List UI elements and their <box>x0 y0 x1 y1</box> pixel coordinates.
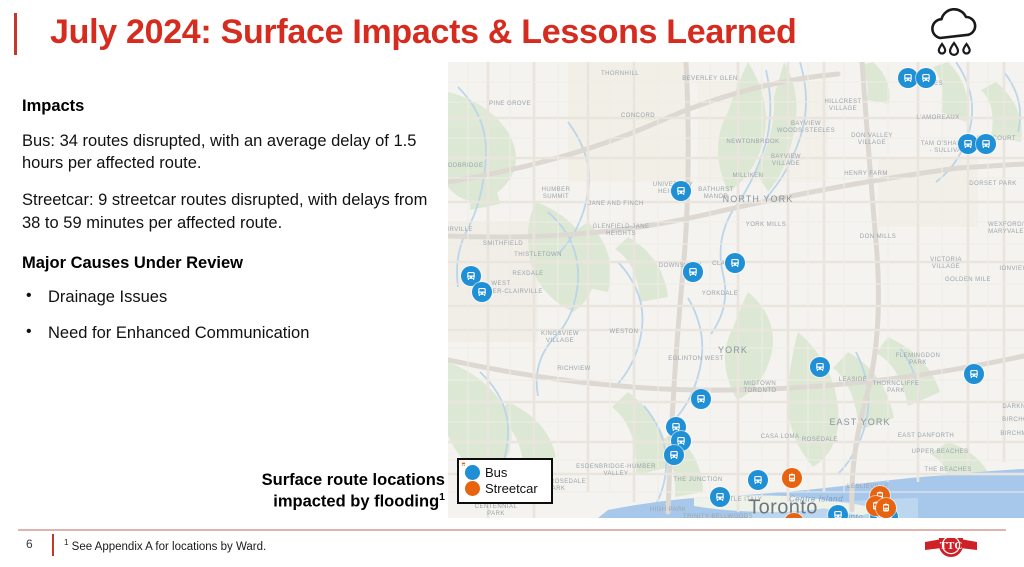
map-legend: Bus Streetcar <box>457 458 553 504</box>
flood-impact-map[interactable]: BEVERLEY GLENTHORNHILLSTEELESPINE GROVEC… <box>448 62 1024 518</box>
map-marker-bus[interactable] <box>898 68 918 88</box>
map-marker-streetcar[interactable] <box>782 468 802 488</box>
map-marker-bus[interactable] <box>916 68 936 88</box>
map-marker-bus[interactable] <box>691 389 711 409</box>
legend-label-bus: Bus <box>485 465 507 480</box>
map-marker-bus[interactable] <box>828 505 848 518</box>
list-item: • Need for Enhanced Communication <box>22 322 432 344</box>
map-marker-streetcar[interactable] <box>876 498 896 518</box>
footnote: 1 See Appendix A for locations by Ward. <box>64 538 266 553</box>
legend-item-bus[interactable]: Bus <box>465 465 544 480</box>
causes-list: • Drainage Issues • Need for Enhanced Co… <box>22 286 432 344</box>
map-marker-bus[interactable] <box>725 253 745 273</box>
map-marker-bus[interactable] <box>671 181 691 201</box>
map-marker-bus[interactable] <box>710 487 730 507</box>
map-marker-bus[interactable] <box>810 357 830 377</box>
bullet-icon: • <box>26 285 32 307</box>
map-marker-bus[interactable] <box>958 134 978 154</box>
caption-line-2: impacted by flooding <box>273 493 439 511</box>
slide-header: July 2024: Surface Impacts & Lessons Lea… <box>0 0 1024 62</box>
list-item: • Drainage Issues <box>22 286 432 308</box>
legend-item-streetcar[interactable]: Streetcar <box>465 481 544 496</box>
impacts-heading: Impacts <box>22 96 432 117</box>
footer-accent-bar <box>52 534 54 556</box>
map-caption: Surface route locations impacted by floo… <box>190 470 445 513</box>
map-marker-bus[interactable] <box>976 134 996 154</box>
map-marker-bus[interactable] <box>664 445 684 465</box>
map-marker-bus[interactable] <box>964 364 984 384</box>
bus-impact-text: Bus: 34 routes disrupted, with an averag… <box>22 130 432 176</box>
cloud-rain-icon <box>922 8 994 58</box>
list-item-label: Drainage Issues <box>48 288 167 306</box>
streetcar-impact-text: Streetcar: 9 streetcar routes disrupted,… <box>22 189 432 235</box>
page-title: July 2024: Surface Impacts & Lessons Lea… <box>50 13 796 52</box>
svg-text:TTC: TTC <box>940 540 963 552</box>
footer-divider <box>18 529 1006 531</box>
map-marker-bus[interactable] <box>472 282 492 302</box>
list-item-label: Need for Enhanced Communication <box>48 324 309 342</box>
bullet-icon: • <box>26 321 32 343</box>
streetcar-icon <box>465 481 480 496</box>
ttc-logo: TTC <box>922 531 980 561</box>
page-number: 6 <box>26 537 33 551</box>
caption-footnote-marker: 1 <box>439 491 445 503</box>
title-accent-bar <box>14 13 17 55</box>
footnote-text: See Appendix A for locations by Ward. <box>68 541 266 553</box>
map-marker-bus[interactable] <box>683 262 703 282</box>
caption-line-1: Surface route locations <box>262 471 445 489</box>
legend-label-streetcar: Streetcar <box>485 481 538 496</box>
map-marker-bus[interactable] <box>748 470 768 490</box>
causes-heading: Major Causes Under Review <box>22 253 432 274</box>
impacts-content: Impacts Bus: 34 routes disrupted, with a… <box>22 96 432 357</box>
map-basemap <box>448 62 1024 518</box>
